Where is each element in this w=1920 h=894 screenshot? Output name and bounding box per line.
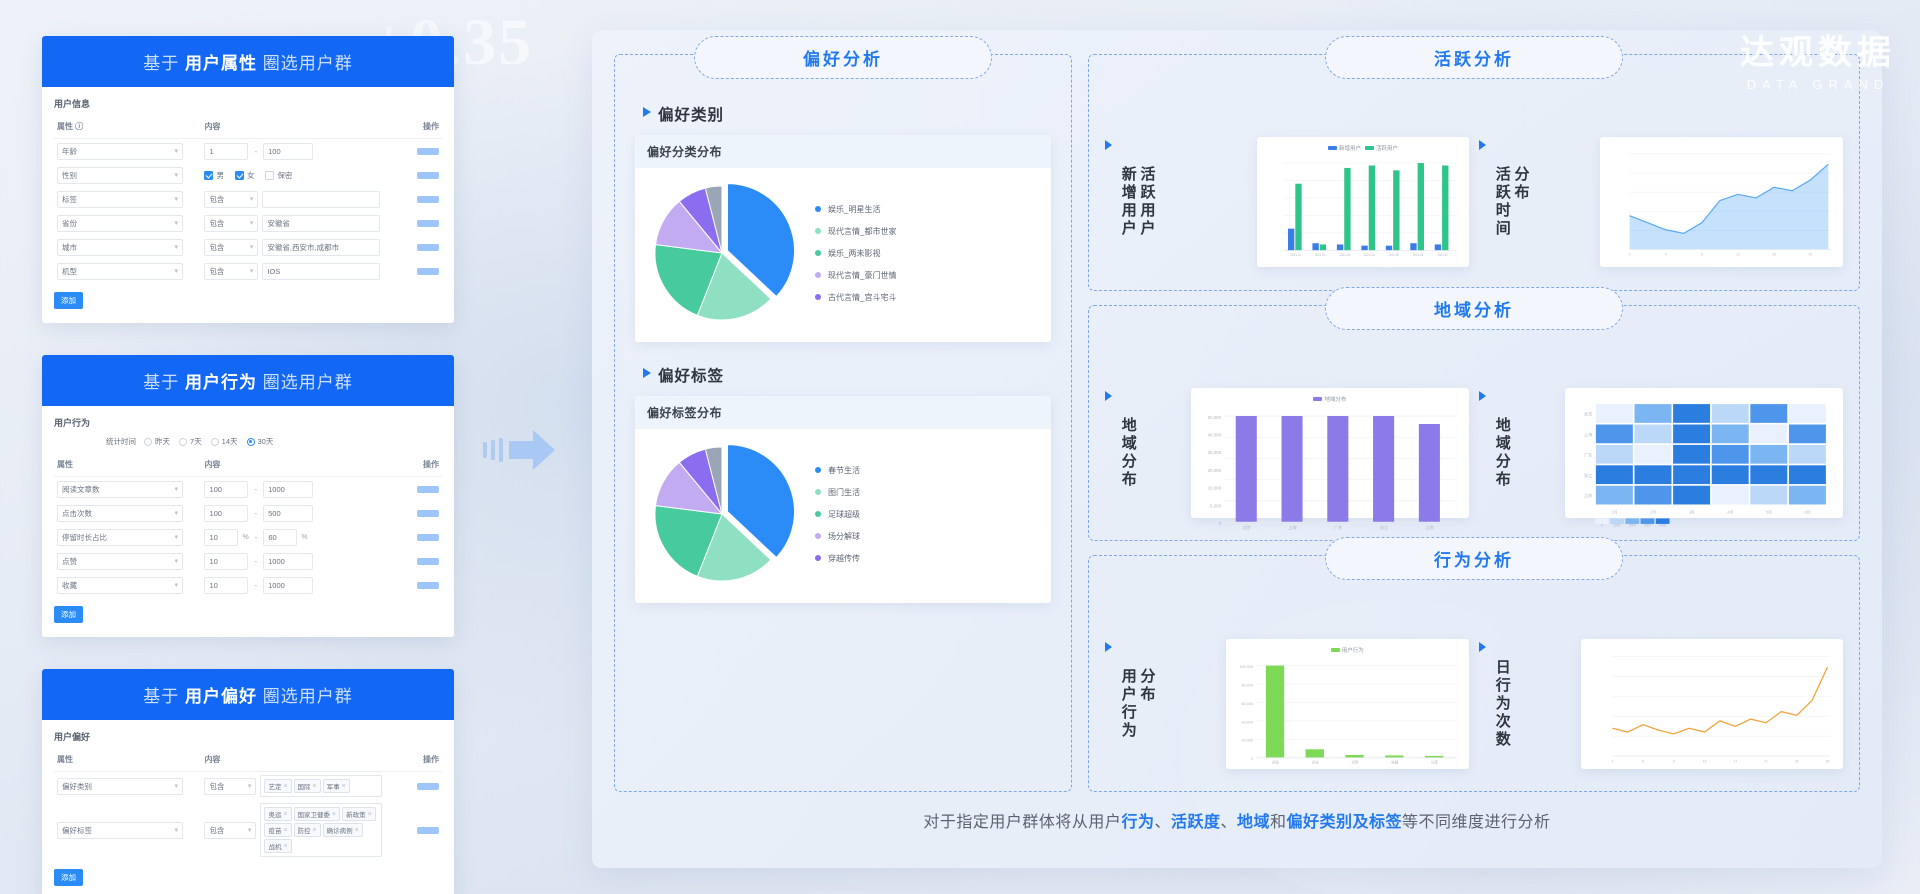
triangle-right-icon: [1105, 140, 1112, 150]
svg-text:12: 12: [1736, 253, 1740, 257]
legend-item[interactable]: 场分解球: [815, 531, 1039, 542]
svg-text:40,000: 40,000: [1241, 720, 1253, 724]
chevron-down-icon: ▾: [174, 581, 178, 589]
tag-label: 艺定: [268, 781, 281, 791]
legend-label: 现代言情_豪门世情: [828, 270, 896, 281]
legend-item[interactable]: 娱乐_两未影视: [815, 248, 1039, 259]
radio-label: 14天: [222, 436, 238, 447]
legend-color-dot: [815, 533, 821, 539]
cell-content: 包含 ▾ 安徽省,西安市,成都市: [201, 235, 395, 259]
svg-text:6月: 6月: [1804, 510, 1810, 515]
title-prefix: 基于: [143, 687, 179, 706]
text-input[interactable]: 100: [204, 481, 248, 498]
filter-table: 属性 内容 操作 偏好类别 ▾ 包含 ▾ 艺定×国际×军事×: [54, 750, 442, 860]
tag-label: 奥运: [268, 809, 281, 819]
delete-link[interactable]: [417, 244, 439, 251]
cell-action: [395, 800, 442, 860]
svg-text:1月: 1月: [1611, 510, 1617, 515]
legend-label: 活跃用户: [1376, 144, 1398, 152]
tag-chip[interactable]: 疫苗×: [264, 823, 291, 837]
svg-text:上海: 上海: [1584, 431, 1592, 437]
info-icon[interactable]: ⓘ: [75, 122, 83, 131]
text-input[interactable]: 1000: [263, 553, 313, 570]
select-control[interactable]: 包含 ▾: [204, 239, 258, 256]
footer-text: 对于指定用户群体将从用户: [923, 814, 1121, 831]
select-control[interactable]: 标签 ▾: [57, 191, 183, 208]
tag-chip[interactable]: 新政策×: [342, 807, 376, 821]
svg-text:浙江: 浙江: [1380, 524, 1388, 530]
tag-remove-icon[interactable]: ×: [332, 811, 336, 818]
svg-text:30,000: 30,000: [1208, 450, 1222, 455]
checkbox[interactable]: [265, 171, 274, 180]
cell-action: [395, 477, 442, 502]
delete-link[interactable]: [417, 220, 439, 227]
analysis-units-row: 地域分布 地域分布 05,00010,00020,00030,00040,000…: [1105, 354, 1843, 553]
cell-attr: 机型 ▾: [54, 259, 201, 283]
delete-link[interactable]: [417, 582, 439, 589]
legend-color-dot: [815, 250, 821, 256]
svg-text:1000: 1000: [1613, 523, 1621, 527]
preference-analysis-box: 偏好分析 偏好类别 偏好分类分布 娱乐_明星生活 现代言情_都市世家 娱乐_两: [614, 54, 1072, 792]
brand-logo: 达观数据 DATA GRAND: [1740, 36, 1896, 92]
tag-chip[interactable]: 国际×: [294, 779, 321, 793]
legend-color-swatch: [1331, 648, 1340, 652]
svg-text:60,000: 60,000: [1241, 702, 1253, 706]
unit-vertical-label: 活跃时间分布: [1494, 166, 1592, 238]
text-input[interactable]: [262, 191, 380, 208]
legend-color-swatch: [1365, 146, 1374, 150]
select-control[interactable]: 包含 ▾: [204, 822, 256, 839]
select-control[interactable]: 城市 ▾: [57, 239, 183, 256]
cell-content: 包含 ▾ 奥运×国家卫健委×新政策×疫苗×防控×确诊病例×战机×: [201, 800, 395, 860]
section-label: 用户行为: [54, 416, 442, 429]
delete-link[interactable]: [417, 558, 439, 565]
legend-item: 用户行为: [1331, 646, 1364, 654]
svg-text:5,000: 5,000: [1210, 503, 1222, 508]
filter-panel-body: 用户信息 属性 ⓘ 内容 操作 年龄 ▾ 1-100 性别: [42, 87, 454, 323]
svg-text:8: 8: [1700, 253, 1702, 257]
svg-text:20,000: 20,000: [1208, 468, 1222, 473]
radio-button[interactable]: [179, 438, 187, 446]
select-control[interactable]: 包含 ▾: [204, 778, 256, 795]
select-control[interactable]: 包含 ▾: [204, 215, 258, 232]
cell-attr: 点击次数 ▾: [54, 501, 201, 525]
select-value: 包含: [209, 781, 224, 792]
cell-attr: 阅读文章数 ▾: [54, 477, 201, 502]
svg-text:100,000: 100,000: [1239, 665, 1253, 669]
range-separator: -: [252, 581, 259, 590]
select-control[interactable]: 收藏 ▾: [57, 577, 183, 594]
radio-button[interactable]: [247, 438, 255, 446]
preference-sub-label: 偏好标签: [658, 364, 724, 386]
select-value: 年龄: [62, 146, 77, 157]
delete-link[interactable]: [417, 196, 439, 203]
chevron-down-icon: ▾: [250, 195, 254, 203]
select-value: 收藏: [62, 580, 77, 591]
title-suffix: 圈选用户群: [263, 373, 353, 392]
select-control[interactable]: 偏好类别 ▾: [57, 778, 183, 795]
preference-sub-label: 偏好类别: [658, 103, 724, 125]
svg-text:江苏: 江苏: [1426, 524, 1434, 530]
text-input[interactable]: IOS: [262, 263, 380, 280]
checkbox-option[interactable]: 保密: [265, 170, 299, 181]
svg-text:2021-01: 2021-01: [1291, 253, 1302, 257]
legend-item: 活跃用户: [1365, 144, 1398, 152]
text-input[interactable]: 1: [204, 143, 248, 160]
delete-link[interactable]: [417, 486, 439, 493]
select-control[interactable]: 性别 ▾: [57, 167, 183, 184]
text-input[interactable]: 安徽省,西安市,成都市: [262, 239, 380, 256]
checkbox-option[interactable]: 女: [235, 170, 262, 181]
svg-text:分享: 分享: [1430, 759, 1438, 764]
tag-remove-icon[interactable]: ×: [283, 827, 287, 834]
text-input[interactable]: 100: [263, 143, 313, 160]
range-separator: -: [252, 509, 259, 518]
checkbox-label: 保密: [277, 170, 292, 181]
checkbox-option[interactable]: 男: [204, 170, 231, 181]
table-row: 标签 ▾ 包含 ▾: [54, 187, 442, 211]
cell-action: [395, 259, 442, 283]
text-input[interactable]: 500: [263, 505, 313, 522]
svg-text:点击: 点击: [1311, 759, 1319, 764]
legend-item[interactable]: 图门生活: [815, 487, 1039, 498]
text-input[interactable]: 10: [204, 577, 248, 594]
select-control[interactable]: 年龄 ▾: [57, 143, 183, 160]
tag-chip[interactable]: 军事×: [323, 779, 350, 793]
legend-label: 地域分布: [1324, 395, 1346, 403]
filter-panel-title: 基于 用户属性 圈选用户群: [42, 36, 454, 87]
triangle-right-icon: [1479, 642, 1486, 652]
preference-sub-header: 偏好标签: [643, 364, 1051, 386]
heatmap-svg: 北京上海广东浙江江苏1月2月3月4月5月6月01000200030004000: [1573, 395, 1835, 527]
pie-legend: 春节生活 图门生活 足球超级 场分解球 穿越传传: [797, 454, 1039, 575]
select-value: 偏好类别: [62, 781, 92, 792]
text-input[interactable]: 100: [204, 505, 248, 522]
cell-action: [395, 549, 442, 573]
table-row: 点赞 ▾ 10-1000: [54, 549, 442, 573]
tag-chip[interactable]: 国家卫健委×: [294, 807, 341, 821]
delete-link[interactable]: [417, 783, 439, 790]
legend-color-dot: [815, 489, 821, 495]
cell-attr: 城市 ▾: [54, 235, 201, 259]
chevron-down-icon: ▾: [250, 267, 254, 275]
cell-attr: 标签 ▾: [54, 187, 201, 211]
analysis-section-3: 行为分析 用户行为分布 用户行为 020,00040,00060,00: [1088, 555, 1860, 792]
svg-text:2000: 2000: [1629, 523, 1637, 527]
preference-chart-card: 偏好标签分布 春节生活 图门生活 足球超级 场分解球 穿越: [635, 396, 1051, 603]
delete-link[interactable]: [417, 827, 439, 834]
svg-text:收藏: 收藏: [1391, 759, 1399, 764]
text-input[interactable]: 1000: [263, 577, 313, 594]
col-attr: 属性: [54, 455, 201, 477]
tag-chip[interactable]: 奥运×: [264, 807, 291, 821]
tag-label: 国际: [298, 781, 311, 791]
legend-item: 地域分布: [1313, 395, 1346, 403]
svg-text:上海: 上海: [1288, 524, 1296, 530]
analysis-stage: 偏好分析 偏好类别 偏好分类分布 娱乐_明星生活 现代言情_都市世家 娱乐_两: [592, 30, 1882, 868]
legend-item[interactable]: 现代言情_都市世家: [815, 226, 1039, 237]
cell-attr: 偏好类别 ▾: [54, 772, 201, 801]
cell-content: 包含 ▾ 安徽省: [201, 211, 395, 235]
analysis-unit-2: 日行为次数 1591317212529: [1479, 639, 1843, 769]
select-control[interactable]: 偏好标签 ▾: [57, 822, 183, 839]
cell-content: 100-1000: [201, 477, 395, 502]
cell-content: 包含 ▾: [201, 187, 395, 211]
chart-plot-area: 1591317212529: [1589, 646, 1835, 770]
chart-card-body: 春节生活 图门生活 足球超级 场分解球 穿越传传: [635, 429, 1051, 603]
select-value: 点击次数: [62, 508, 92, 519]
select-value: 包含: [209, 218, 224, 229]
delete-link[interactable]: [417, 268, 439, 275]
legend-item[interactable]: 娱乐_明星生活: [815, 204, 1039, 215]
svg-text:25: 25: [1795, 759, 1799, 763]
bar-chart-svg: 2021-012021-022021-032021-042021-052021-…: [1265, 154, 1461, 263]
tag-remove-icon[interactable]: ×: [283, 843, 287, 850]
chevron-down-icon: ▾: [174, 267, 178, 275]
chevron-down-icon: ▾: [250, 243, 254, 251]
unit-chart-card: 1591317212529: [1581, 639, 1843, 769]
title-suffix: 圈选用户群: [263, 54, 353, 73]
tag-remove-icon[interactable]: ×: [368, 811, 372, 818]
svg-text:2021-04: 2021-04: [1364, 253, 1375, 257]
select-value: 包含: [209, 242, 224, 253]
svg-text:0: 0: [1219, 521, 1222, 526]
legend-color-dot: [815, 272, 821, 278]
legend-label: 场分解球: [828, 531, 860, 542]
chart-plot-area: 048121620: [1608, 144, 1836, 263]
select-value: 停留时长占比: [62, 532, 107, 543]
legend-label: 穿越传传: [828, 553, 860, 564]
cell-action: [395, 187, 442, 211]
cell-action: [395, 772, 442, 801]
svg-text:17: 17: [1733, 759, 1737, 763]
text-input[interactable]: 安徽省: [262, 215, 380, 232]
left-panel-column: 基于 用户属性 圈选用户群 用户信息 属性 ⓘ 内容 操作 年龄 ▾ 1-100: [42, 36, 454, 894]
vertical-label-column: 地域分布: [1120, 417, 1136, 489]
delete-link[interactable]: [417, 148, 439, 155]
tag-chip[interactable]: 战机×: [264, 839, 291, 853]
svg-text:广东: 广东: [1334, 524, 1342, 530]
preference-groups: 偏好类别 偏好分类分布 娱乐_明星生活 现代言情_都市世家 娱乐_两未影视 现代: [635, 103, 1051, 603]
legend-color-dot: [815, 467, 821, 473]
text-input[interactable]: 10: [204, 553, 248, 570]
cell-content: 1-100: [201, 139, 395, 164]
col-content: 内容: [201, 117, 395, 139]
table-row: 机型 ▾ 包含 ▾ IOS: [54, 259, 442, 283]
tag-input[interactable]: 奥运×国家卫健委×新政策×疫苗×防控×确诊病例×战机×: [260, 803, 382, 857]
chevron-down-icon: ▾: [174, 219, 178, 227]
svg-text:北京: 北京: [1243, 524, 1251, 530]
cell-content: 10%-60%: [201, 525, 395, 549]
table-header-row: 属性 内容 操作: [54, 455, 442, 477]
time-range-selector[interactable]: 统计时间 昨天 7天 14天 30天: [54, 436, 442, 447]
checkbox[interactable]: [235, 171, 244, 180]
filter-panel-2: 基于 用户行为 圈选用户群 用户行为 统计时间 昨天 7天 14天: [42, 355, 454, 637]
legend-label: 春节生活: [828, 465, 860, 476]
radio-button[interactable]: [211, 438, 219, 446]
analysis-section-2: 地域分析 地域分布 地域分布 05,00010,00020,00030: [1088, 305, 1860, 542]
bar-chart-svg: 05,00010,00020,00030,00040,00050,000北京上海…: [1199, 405, 1461, 537]
tag-remove-icon[interactable]: ×: [313, 783, 317, 790]
cell-action: [395, 573, 442, 597]
delete-link[interactable]: [417, 510, 439, 517]
svg-text:点赞: 点赞: [1351, 759, 1359, 764]
vertical-label-column: 用户行为: [1120, 668, 1136, 740]
add-condition-button[interactable]: 添加: [54, 292, 83, 309]
svg-text:2021-06: 2021-06: [1413, 253, 1424, 257]
unit-vertical-label: 用户行为分布: [1120, 668, 1218, 740]
cell-attr: 停留时长占比 ▾: [54, 525, 201, 549]
legend-item[interactable]: 足球超级: [815, 509, 1039, 520]
tag-input[interactable]: 艺定×国际×军事×: [260, 775, 382, 797]
footer-accent-text: 活跃度: [1171, 814, 1221, 831]
filter-panel-1: 基于 用户属性 圈选用户群 用户信息 属性 ⓘ 内容 操作 年龄 ▾ 1-100: [42, 36, 454, 323]
legend-item[interactable]: 春节生活: [815, 465, 1039, 476]
select-control[interactable]: 停留时长占比 ▾: [57, 529, 183, 546]
svg-text:广东: 广东: [1584, 451, 1592, 457]
footer-accent-text: 偏好类别及标签: [1287, 814, 1403, 831]
select-control[interactable]: 省份 ▾: [57, 215, 183, 232]
select-control[interactable]: 包含 ▾: [204, 263, 258, 280]
select-control[interactable]: 阅读文章数 ▾: [57, 481, 183, 498]
chart-legend: 地域分布: [1199, 395, 1461, 403]
filter-table: 属性 内容 操作 阅读文章数 ▾ 100-1000 点击次数 ▾: [54, 455, 442, 597]
legend-label: 图门生活: [828, 487, 860, 498]
cell-content: 包含 ▾ IOS: [201, 259, 395, 283]
flow-arrow: [483, 425, 567, 475]
svg-text:4月: 4月: [1727, 510, 1733, 515]
analysis-unit-1: 用户行为分布 用户行为 020,00040,00060,00080,000100…: [1105, 639, 1469, 769]
select-value: 偏好标签: [62, 825, 92, 836]
radio-label: 30天: [258, 436, 274, 447]
stage-footer-note: 对于指定用户群体将从用户行为、活跃度、地域和偏好类别及标签等不同维度进行分析: [614, 808, 1860, 832]
cell-content: 男 女 保密: [201, 163, 395, 187]
chart-card-title: 偏好分类分布: [635, 135, 1051, 168]
unit-chart-card: 用户行为 020,00040,00060,00080,000100,000浏览点…: [1226, 639, 1470, 769]
tag-remove-icon[interactable]: ×: [283, 783, 287, 790]
radio-option[interactable]: 30天: [247, 436, 283, 447]
analysis-section-pill: 活跃分析: [1325, 36, 1623, 79]
tag-label: 疫苗: [268, 825, 281, 835]
select-value: 机型: [62, 266, 77, 277]
select-value: 包含: [209, 194, 224, 205]
tag-remove-icon[interactable]: ×: [342, 783, 346, 790]
add-condition-button[interactable]: 添加: [54, 606, 83, 623]
area-chart-svg: 048121620: [1608, 144, 1836, 263]
svg-text:1: 1: [1611, 759, 1613, 763]
col-attr: 属性: [54, 750, 201, 772]
preference-group-1: 偏好类别 偏好分类分布 娱乐_明星生活 现代言情_都市世家 娱乐_两未影视 现代: [635, 103, 1051, 342]
select-control[interactable]: 机型 ▾: [57, 263, 183, 280]
tag-remove-icon[interactable]: ×: [313, 827, 317, 834]
chevron-down-icon: ▾: [174, 485, 178, 493]
bar-chart-svg: 020,00040,00060,00080,000100,000浏览点击点赞收藏…: [1234, 656, 1462, 771]
brand-logo-en: DATA GRAND: [1740, 77, 1896, 92]
chevron-down-icon: ▾: [248, 782, 252, 790]
legend-item[interactable]: 古代言情_宫斗宅斗: [815, 292, 1039, 303]
tag-label: 防控: [298, 825, 311, 835]
pie-chart-svg: [647, 178, 797, 328]
select-control[interactable]: 点击次数 ▾: [57, 505, 183, 522]
analysis-section-pill: 行为分析: [1325, 537, 1623, 580]
chevron-down-icon: ▾: [174, 826, 178, 834]
title-suffix: 圈选用户群: [263, 687, 353, 706]
tag-chip[interactable]: 艺定×: [264, 779, 291, 793]
legend-label: 足球超级: [828, 509, 860, 520]
footer-accent-text: 行为: [1121, 814, 1154, 831]
table-row: 停留时长占比 ▾ 10%-60%: [54, 525, 442, 549]
footer-text: 和: [1270, 814, 1287, 831]
chevron-down-icon: ▾: [174, 557, 178, 565]
text-input[interactable]: 1000: [263, 481, 313, 498]
unit-chart-card: 地域分布 05,00010,00020,00030,00040,00050,00…: [1191, 388, 1469, 518]
radio-button[interactable]: [144, 438, 152, 446]
svg-text:5: 5: [1642, 759, 1644, 763]
svg-text:3月: 3月: [1689, 510, 1695, 515]
svg-text:16: 16: [1772, 253, 1776, 257]
filter-table: 属性 ⓘ 内容 操作 年龄 ▾ 1-100 性别 ▾: [54, 117, 442, 283]
svg-text:4: 4: [1664, 253, 1666, 257]
svg-text:2月: 2月: [1650, 510, 1656, 515]
title-highlight: 用户行为: [185, 373, 263, 392]
tag-label: 新政策: [346, 809, 366, 819]
table-row: 偏好标签 ▾ 包含 ▾ 奥运×国家卫健委×新政策×疫苗×防控×确诊病例×战机×: [54, 800, 442, 860]
legend-color-swatch: [1328, 146, 1337, 150]
range-separator: -: [252, 147, 259, 156]
legend-item[interactable]: 现代言情_豪门世情: [815, 270, 1039, 281]
legend-color-swatch: [1313, 397, 1322, 401]
unit-vertical-label: 地域分布: [1494, 417, 1557, 489]
delete-link[interactable]: [417, 172, 439, 179]
radio-option[interactable]: 昨天: [144, 436, 179, 447]
svg-text:2021-07: 2021-07: [1437, 253, 1448, 257]
tag-label: 战机: [268, 841, 281, 851]
radio-option[interactable]: 7天: [179, 436, 211, 447]
svg-text:20,000: 20,000: [1241, 738, 1253, 742]
legend-label: 古代言情_宫斗宅斗: [828, 292, 896, 303]
select-control[interactable]: 点赞 ▾: [57, 553, 183, 570]
select-value: 城市: [62, 242, 77, 253]
radio-label: 昨天: [155, 436, 170, 447]
tag-chip[interactable]: 防控×: [294, 823, 321, 837]
svg-text:50,000: 50,000: [1208, 415, 1222, 420]
radio-option[interactable]: 14天: [211, 436, 247, 447]
text-input[interactable]: 60: [263, 529, 297, 546]
select-control[interactable]: 包含 ▾: [204, 191, 258, 208]
preference-analysis-pill: 偏好分析: [694, 36, 992, 79]
legend-item[interactable]: 穿越传传: [815, 553, 1039, 564]
tag-remove-icon[interactable]: ×: [283, 811, 287, 818]
svg-text:13: 13: [1702, 759, 1706, 763]
cell-action: [395, 139, 442, 164]
add-condition-button[interactable]: 添加: [54, 869, 83, 886]
title-prefix: 基于: [143, 54, 179, 73]
legend-color-dot: [815, 228, 821, 234]
table-row: 偏好类别 ▾ 包含 ▾ 艺定×国际×军事×: [54, 772, 442, 801]
tag-label: 国家卫健委: [298, 809, 331, 819]
preference-sub-header: 偏好类别: [643, 103, 1051, 125]
text-input[interactable]: 10: [204, 529, 238, 546]
checkbox[interactable]: [204, 171, 213, 180]
col-action: 操作: [395, 117, 442, 139]
checkbox-label: 女: [247, 170, 255, 181]
delete-link[interactable]: [417, 534, 439, 541]
section-label: 用户信息: [54, 97, 442, 110]
tag-chip[interactable]: 确诊病例×: [323, 823, 363, 837]
tag-remove-icon[interactable]: ×: [355, 827, 359, 834]
triangle-right-icon: [1105, 391, 1112, 401]
svg-text:3000: 3000: [1644, 523, 1652, 527]
